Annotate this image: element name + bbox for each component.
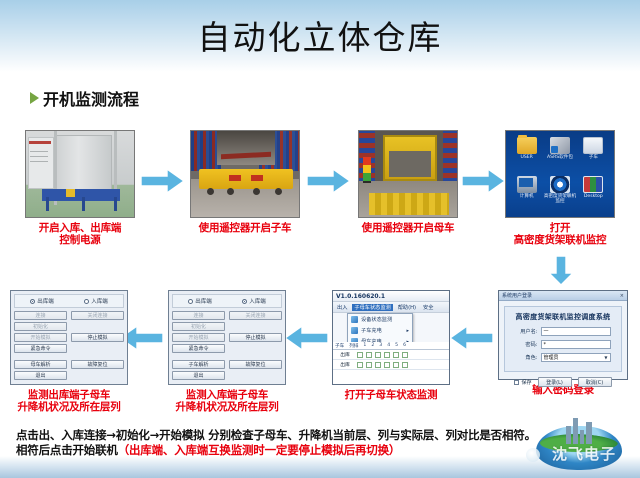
inbound-button-block: 连接 关闭连接 初始化 开始模拟 停止模拟 紧急命令 子车解析 故障复位 退出 — [172, 311, 282, 380]
desktop-icon-label: Desktop — [584, 194, 603, 199]
grid-col-7: 6 — [403, 343, 406, 348]
grid-checkbox[interactable] — [384, 352, 390, 358]
outbound-button-block: 连接 关闭连接 初始化 开始模拟 停止模拟 紧急命令 母车解析 故障复位 退出 — [14, 311, 124, 380]
note-line-2-red: （出库端、入库端互换监测时一定要停止模拟后再切换） — [118, 443, 401, 457]
version-bar: V1.0.160620.1 — [333, 291, 449, 302]
role-select-value: 管理员 — [544, 354, 559, 361]
flow-step-5-caption: 监测出库端子母车 升降机状况及所在层列 — [18, 389, 121, 413]
stop-sim-button[interactable]: 停止模拟 — [229, 333, 282, 342]
remember-checkbox[interactable]: 保存 — [514, 379, 531, 386]
computer-icon — [517, 176, 537, 193]
grid-checkbox[interactable] — [375, 362, 381, 368]
car-marking — [229, 175, 241, 181]
car-wheel — [275, 188, 282, 195]
desktop-icon-user[interactable]: USER — [510, 135, 543, 174]
menu-popup-item-device-status[interactable]: 设备状态监测 — [348, 314, 412, 325]
conveyor-shape — [42, 189, 120, 197]
inbound-monitor-dialog[interactable]: 出库端 入库端 连接 关闭连接 初始化 开始模拟 停止模拟 紧急命令 子车解析 … — [168, 290, 286, 385]
radio-inbound-label: 入库端 — [249, 297, 266, 305]
spacer — [71, 344, 124, 353]
spacer — [71, 322, 124, 331]
desktop-icon-shuttle[interactable]: 子车 — [577, 135, 610, 174]
desktop-icon-asrs-package[interactable]: ASRS软件包 — [543, 135, 576, 174]
yellow-platform — [369, 193, 449, 215]
start-sim-button[interactable]: 开始模拟 — [172, 333, 225, 342]
divider — [14, 355, 124, 358]
grid-col-5: 4 — [387, 343, 390, 348]
car-marking — [251, 175, 263, 181]
close-icon[interactable]: × — [620, 293, 624, 299]
login-button[interactable]: 登录(L) — [538, 377, 572, 387]
desktop-icon-label: 高密度货架联机监控 — [543, 194, 576, 204]
folder-icon — [517, 137, 537, 154]
row-checkboxes — [357, 352, 408, 358]
grid-checkbox[interactable] — [366, 352, 372, 358]
login-titlebar-text: 系统用户登录 — [502, 292, 532, 299]
grid-col-6: 5 — [395, 343, 398, 348]
login-titlebar: 系统用户登录 × — [499, 291, 627, 301]
login-dialog[interactable]: 系统用户登录 × 高密度货架联机监控调度系统 用户名: 一 密码: * 角色: … — [498, 290, 628, 380]
grid-checkbox[interactable] — [393, 352, 399, 358]
note-line-1: 点击出、入库连接→初始化→开始模拟 分别检查子母车、升降机当前层、列与实际层、列… — [16, 428, 536, 443]
outbound-monitor-dialog[interactable]: 出库端 入库端 连接 关闭连接 初始化 开始模拟 停止模拟 紧急命令 母车解析 … — [10, 290, 128, 385]
city-skyline-icon — [566, 416, 596, 444]
conveyor-leg — [46, 197, 49, 211]
endpoint-radio-group-in: 出库端 入库端 — [172, 294, 282, 308]
rack-column — [443, 131, 458, 183]
table-row: 出库 — [333, 360, 450, 370]
shuttle-car-shape — [199, 169, 293, 189]
car-wheel — [253, 188, 260, 195]
emergency-button[interactable]: 紧急命令 — [172, 344, 225, 353]
watermark-text: 沈飞电子 — [534, 443, 634, 464]
signal-lamp-yellow — [363, 165, 371, 173]
image-icon — [583, 176, 603, 193]
chevron-down-icon: ▼ — [604, 355, 609, 360]
radio-outbound[interactable]: 出库端 — [30, 297, 54, 305]
chevron-right-icon: ▸ — [406, 328, 409, 334]
bottom-note: 点击出、入库连接→初始化→开始模拟 分别检查子母车、升降机当前层、列与实际层、列… — [16, 428, 536, 458]
cabinet-line — [30, 156, 48, 157]
desktop-icon-grid: USER ASRS软件包 子车 计算机 高密度货架联机监控 — [510, 135, 610, 213]
connect-button[interactable]: 连接 — [172, 311, 225, 320]
slide-root: 自动化立体仓库 开机监测流程 开启入库、出库端 控制电源 — [0, 0, 640, 478]
bullet-arrow-icon — [30, 92, 39, 104]
fault-reset-button[interactable]: 故障复位 — [71, 360, 124, 369]
arrow-8-7-icon — [450, 325, 494, 351]
grid-checkbox[interactable] — [357, 352, 363, 358]
spacer — [229, 371, 282, 380]
menu-item-inout[interactable]: 出入 — [335, 304, 349, 311]
username-row: 用户名: 一 — [509, 327, 617, 336]
password-row: 密码: * — [509, 340, 617, 349]
mother-parse-button[interactable]: 母车解析 — [14, 360, 67, 369]
flow-step-7-caption: 打开子母车状态监测 — [345, 389, 438, 401]
flow-step-1-caption: 开启入库、出库端 控制电源 — [39, 222, 121, 246]
cabinet-red-stripe — [29, 141, 51, 144]
menu-bar: 出入 子母车状态监测 帮助(H) 安全 — [333, 302, 449, 313]
rolling-door-shape — [56, 135, 112, 195]
flow-step-3: 使用遥控器开启母车 — [358, 130, 458, 234]
grid-checkbox[interactable] — [384, 362, 390, 368]
flow-step-5: 出库端 入库端 连接 关闭连接 初始化 开始模拟 停止模拟 紧急命令 母车解析 … — [10, 290, 128, 413]
mother-car-lift-photo — [358, 130, 458, 218]
close-connection-button[interactable]: 关闭连接 — [71, 311, 124, 320]
subtitle-row: 开机监测流程 — [30, 86, 139, 110]
close-connection-button[interactable]: 关闭连接 — [229, 311, 282, 320]
arrow-7-6-icon — [285, 325, 329, 351]
fault-reset-button[interactable]: 故障复位 — [229, 360, 282, 369]
grid-col-3: 2 — [371, 343, 374, 348]
radio-inbound[interactable]: 入库端 — [242, 297, 266, 305]
status-grid: 子车 列排 1 2 3 4 5 6 出库 — [333, 342, 450, 384]
shuttle-car-photo — [190, 130, 300, 218]
username-input[interactable]: 一 — [541, 327, 611, 336]
cabinet-shape — [28, 137, 54, 189]
flow-step-3-caption: 使用遥控器开启母车 — [362, 222, 455, 234]
desktop-icon-label: 计算机 — [520, 194, 534, 199]
row-checkboxes — [357, 362, 408, 368]
cabinet-line — [30, 151, 48, 152]
page-title: 自动化立体仓库 — [0, 18, 640, 58]
spacer — [71, 371, 124, 380]
grid-checkbox[interactable] — [375, 352, 381, 358]
desktop-icon-monitor-app[interactable]: 高密度货架联机监控 — [543, 174, 576, 213]
watermark: 沈飞电子 — [522, 402, 634, 474]
arrow-down-icon — [548, 256, 574, 286]
checkbox-box-icon — [514, 380, 519, 385]
spacer — [229, 322, 282, 331]
flow-step-4-caption: 打开 高密度货架联机监控 — [514, 222, 607, 246]
grid-col-4: 3 — [379, 343, 382, 348]
menu-popup-label: 设备状态监测 — [361, 316, 392, 323]
shuttle-parse-button[interactable]: 子车解析 — [172, 360, 225, 369]
radio-outbound[interactable]: 出库端 — [188, 297, 212, 305]
divider — [172, 355, 282, 358]
car-wheel — [227, 188, 234, 195]
note-line-2-black: 相符后点击开始联机 — [16, 443, 118, 457]
row-label: 出库 — [333, 351, 357, 358]
spacer — [229, 344, 282, 353]
flow-step-8: 系统用户登录 × 高密度货架联机监控调度系统 用户名: 一 密码: * 角色: … — [498, 290, 628, 396]
initialize-button[interactable]: 初始化 — [14, 322, 67, 331]
remember-label: 保存 — [521, 379, 531, 386]
lift-cage-interior — [389, 151, 431, 177]
stop-sim-button[interactable]: 停止模拟 — [71, 333, 124, 342]
radio-dot-icon — [84, 299, 89, 304]
emergency-button[interactable]: 紧急命令 — [14, 344, 67, 353]
grid-checkbox[interactable] — [393, 362, 399, 368]
shuttle-charge-icon — [351, 327, 358, 334]
endpoint-radio-group-out: 出库端 入库端 — [14, 294, 124, 308]
menu-popup-item-shuttle-charge[interactable]: 子车充电 ▸ — [348, 325, 412, 336]
yellow-unit — [66, 189, 75, 197]
grid-col-0: 子车 — [335, 343, 344, 349]
menu-item-safety[interactable]: 安全 — [421, 304, 435, 311]
radio-outbound-label: 出库端 — [37, 297, 54, 305]
desktop-icon-label: 子车 — [589, 155, 598, 160]
cabinet-line — [30, 161, 48, 162]
menu-item-status-monitor[interactable]: 子母车状态监测 — [352, 304, 392, 311]
status-monitor-window[interactable]: V1.0.160620.1 出入 子母车状态监测 帮助(H) 安全 设备状态监测… — [332, 290, 450, 385]
arrow-2-3-icon — [307, 168, 351, 194]
desktop-icon-desktop[interactable]: Desktop — [577, 174, 610, 213]
cancel-button[interactable]: 取消(C) — [578, 377, 612, 387]
role-label: 角色: — [516, 354, 538, 361]
conveyor-shape — [42, 197, 120, 201]
radio-dot-icon — [30, 299, 35, 304]
document-icon — [583, 137, 603, 154]
grid-checkbox[interactable] — [357, 362, 363, 368]
grid-checkbox[interactable] — [366, 362, 372, 368]
password-input[interactable]: * — [541, 340, 611, 349]
initialize-button[interactable]: 初始化 — [172, 322, 225, 331]
flow-step-6-caption: 监测入库端子母车 升降机状况及所在层列 — [176, 389, 279, 413]
login-heading: 高密度货架联机监控调度系统 — [509, 312, 617, 322]
menu-popup-label: 子车充电 — [361, 327, 382, 334]
radio-dot-icon — [242, 299, 247, 304]
subtitle-label: 开机监测流程 — [43, 86, 139, 110]
desktop-icon-computer[interactable]: 计算机 — [510, 174, 543, 213]
flow-step-2: 使用遥控器开启子车 — [190, 130, 300, 234]
aisle-shape — [217, 131, 275, 165]
radio-outbound-label: 出库端 — [195, 297, 212, 305]
menu-item-help[interactable]: 帮助(H) — [396, 304, 418, 311]
login-button-row: 保存 登录(L) 取消(C) — [499, 377, 627, 387]
control-cabinet-photo — [25, 130, 135, 218]
desktop-icons-screenshot: USER ASRS软件包 子车 计算机 高密度货架联机监控 — [505, 130, 615, 218]
grid-checkbox[interactable] — [402, 362, 408, 368]
desktop-icon-label: USER — [520, 155, 532, 160]
password-label: 密码: — [516, 341, 538, 348]
radio-dot-icon — [188, 299, 193, 304]
grid-col-1: 列排 — [349, 343, 358, 349]
radio-inbound-label: 入库端 — [91, 297, 108, 305]
conveyor-leg — [82, 197, 85, 211]
package-icon — [550, 137, 570, 154]
car-wheel — [207, 188, 214, 195]
exit-button[interactable]: 退出 — [14, 371, 67, 380]
signal-lamp-green — [363, 173, 371, 181]
device-status-icon — [351, 316, 358, 323]
start-sim-button[interactable]: 开始模拟 — [14, 333, 67, 342]
desktop-icon-label: ASRS软件包 — [547, 155, 573, 160]
radio-inbound[interactable]: 入库端 — [84, 297, 108, 305]
table-row: 出库 — [333, 350, 450, 360]
eye-icon — [550, 176, 570, 193]
login-body: 高密度货架联机监控调度系统 用户名: 一 密码: * 角色: 管理员 ▼ — [504, 306, 622, 372]
arrow-1-2-icon — [141, 168, 185, 194]
role-row: 角色: 管理员 ▼ — [509, 353, 617, 362]
flow-step-6: 出库端 入库端 连接 关闭连接 初始化 开始模拟 停止模拟 紧急命令 子车解析 … — [168, 290, 286, 413]
status-grid-header: 子车 列排 1 2 3 4 5 6 — [333, 342, 450, 350]
role-select[interactable]: 管理员 ▼ — [541, 353, 611, 362]
flow-step-7: V1.0.160620.1 出入 子母车状态监测 帮助(H) 安全 设备状态监测… — [332, 290, 450, 401]
signal-lamp-red — [363, 157, 371, 165]
connect-button[interactable]: 连接 — [14, 311, 67, 320]
flow-step-2-caption: 使用遥控器开启子车 — [199, 222, 292, 234]
grid-col-2: 1 — [363, 343, 366, 348]
flow-step-4: USER ASRS软件包 子车 计算机 高密度货架联机监控 — [505, 130, 615, 246]
arrow-3-4-icon — [462, 168, 506, 194]
username-label: 用户名: — [516, 328, 538, 335]
row-label: 出库 — [333, 361, 357, 368]
grid-checkbox[interactable] — [402, 352, 408, 358]
conveyor-leg — [114, 197, 117, 211]
flow-step-1: 开启入库、出库端 控制电源 — [25, 130, 135, 246]
exit-button[interactable]: 退出 — [172, 371, 225, 380]
